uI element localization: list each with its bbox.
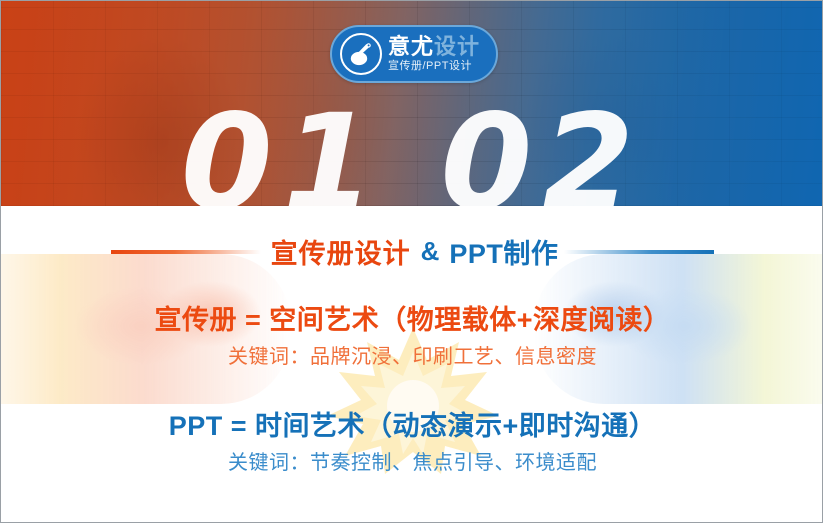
brochure-heading: 宣传册 = 空间艺术（物理载体+深度阅读） [1,298,823,337]
title-rule-left [111,250,261,254]
brochure-keywords: 关键词：品牌沉浸、印刷工艺、信息密度 [1,340,823,369]
brand-logo-text: 意尤设计 宣传册/PPT设计 [388,36,480,72]
brand-logo-badge[interactable]: 意尤设计 宣传册/PPT设计 [330,25,498,83]
brand-logo-title-secondary: 设计 [434,34,480,59]
ppt-heading: PPT = 时间艺术（动态演示+即时沟通） [1,404,823,443]
ppt-keywords: 关键词：节奏控制、焦点引导、环境适配 [1,446,823,475]
section-title-row: 宣传册设计 & PPT制作 [1,232,823,271]
brush-pen-circle-icon [340,33,382,75]
hero-banner: 01 02 意尤设计 宣传册/PPT设计 [1,1,823,206]
text-content: 宣传册设计 & PPT制作 宣传册 = 空间艺术（物理载体+深度阅读） 关键词：… [1,206,823,523]
hero-ghost-numbers: 01 02 [1,97,823,206]
brand-logo-title-primary: 意尤 [388,34,434,59]
brand-logo-title: 意尤设计 [388,36,480,58]
slide-canvas: 01 02 意尤设计 宣传册/PPT设计 [0,0,823,523]
title-left-text: 宣传册设计 [271,232,411,271]
brand-logo-subtitle: 宣传册/PPT设计 [388,61,480,72]
title-separator: & [421,236,440,267]
content-area: 宣传册设计 & PPT制作 宣传册 = 空间艺术（物理载体+深度阅读） 关键词：… [1,206,823,523]
title-right-text: PPT制作 [449,232,558,271]
title-rule-right [564,250,714,254]
